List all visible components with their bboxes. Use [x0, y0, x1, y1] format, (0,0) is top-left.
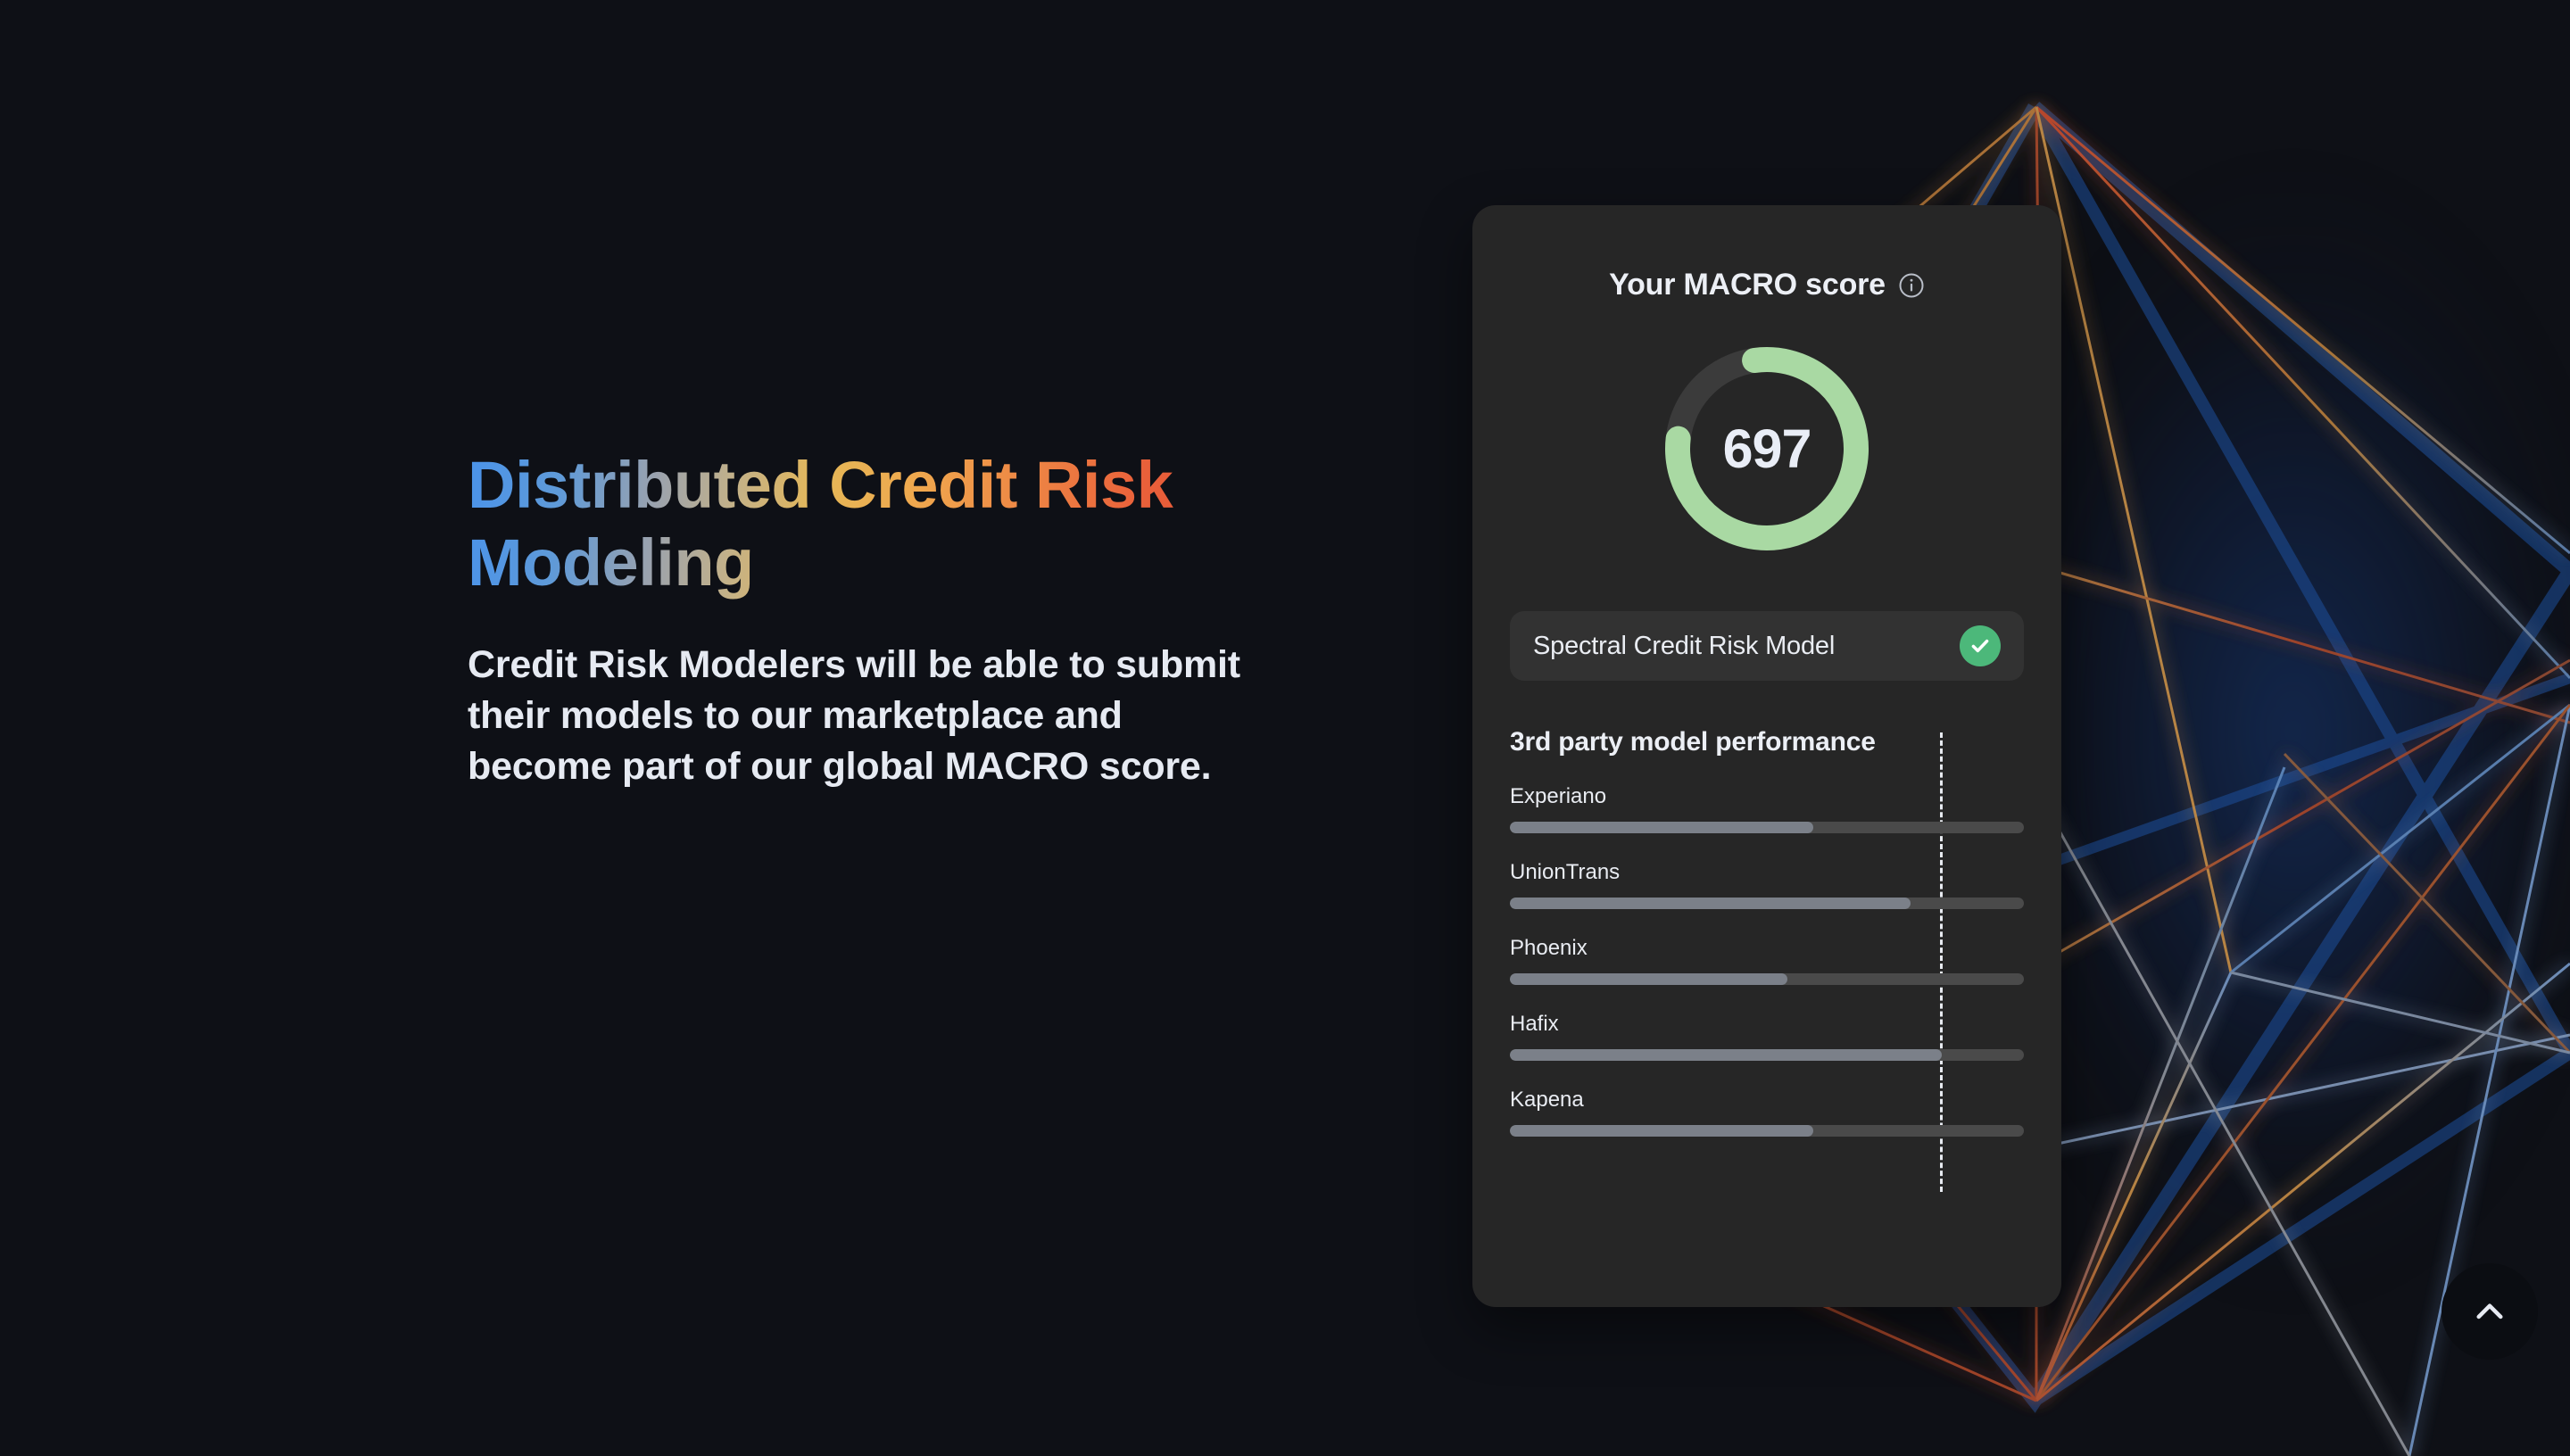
macro-score-card: Your MACRO score 697 Spectral Credit Ris…: [1472, 205, 2061, 1307]
performance-list: Experiano UnionTrans Phoenix Hafix Kapen: [1510, 784, 2024, 1137]
performance-track: [1510, 898, 2024, 909]
performance-label: Hafix: [1510, 1012, 2024, 1037]
performance-heading: 3rd party model performance: [1510, 727, 2024, 757]
performance-fill: [1510, 822, 1813, 833]
hero-description: Credit Risk Modelers will be able to sub…: [468, 640, 1271, 793]
performance-track: [1510, 973, 2024, 985]
performance-track: [1510, 822, 2024, 833]
list-item: Kapena: [1510, 1088, 2024, 1137]
list-item: Phoenix: [1510, 936, 2024, 985]
performance-label: Experiano: [1510, 784, 2024, 809]
chevron-up-icon: [2471, 1293, 2508, 1330]
card-title: Your MACRO score: [1609, 268, 1886, 302]
performance-fill: [1510, 973, 1787, 985]
hero-copy: Distributed Credit Risk Modeling Credit …: [468, 446, 1324, 792]
score-gauge-wrap: 697: [1510, 342, 2024, 556]
list-item: Experiano: [1510, 784, 2024, 833]
score-gauge: 697: [1660, 342, 1874, 556]
card-title-row: Your MACRO score: [1510, 205, 2024, 302]
info-circle-icon[interactable]: [1898, 272, 1925, 299]
scroll-to-top-button[interactable]: [2441, 1263, 2538, 1360]
performance-label: Kapena: [1510, 1088, 2024, 1113]
performance-track: [1510, 1125, 2024, 1137]
page-title: Distributed Credit Risk Modeling: [468, 446, 1324, 602]
performance-fill: [1510, 1125, 1813, 1137]
list-item: Hafix: [1510, 1012, 2024, 1061]
performance-track: [1510, 1049, 2024, 1061]
performance-fill: [1510, 1049, 1942, 1061]
performance-label: UnionTrans: [1510, 860, 2024, 885]
score-value: 697: [1660, 342, 1874, 556]
model-name: Spectral Credit Risk Model: [1533, 632, 1835, 661]
performance-label: Phoenix: [1510, 936, 2024, 961]
selected-model-row[interactable]: Spectral Credit Risk Model: [1510, 611, 2024, 681]
check-circle-icon: [1960, 625, 2001, 666]
list-item: UnionTrans: [1510, 860, 2024, 909]
performance-fill: [1510, 898, 1911, 909]
